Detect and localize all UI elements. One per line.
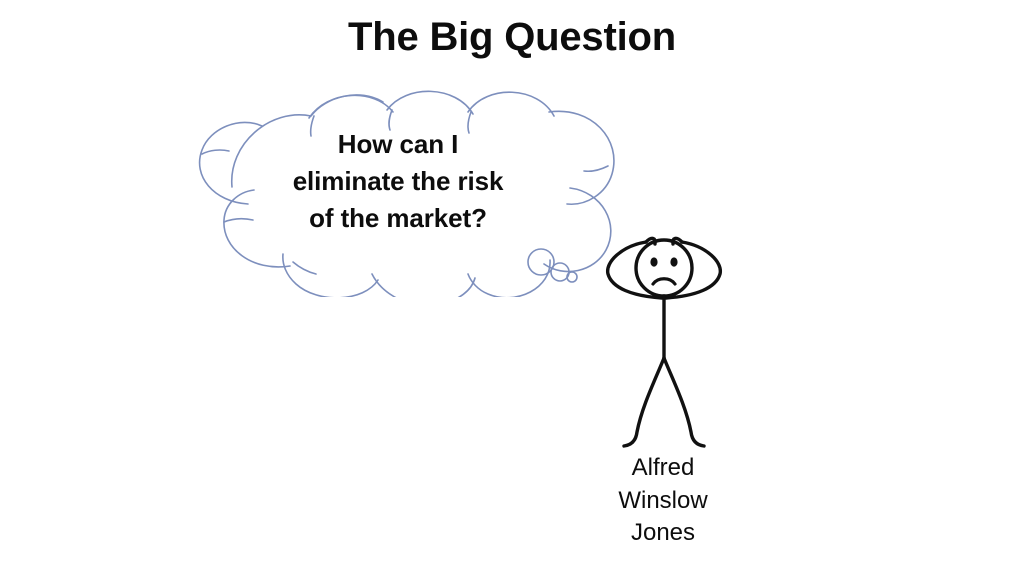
cloud-lobe-bottom-mid [372,274,475,297]
thought-bubble-text: How can I eliminate the risk of the mark… [238,126,558,237]
stick-figure-drawing [596,226,732,458]
cloud-lobe-top-right [468,92,554,116]
frowning-mouth [653,279,675,284]
right-eye [670,257,677,266]
right-leg [664,358,704,446]
thought-line-3: of the market? [238,200,558,237]
cloud-seam-7 [293,262,316,274]
caption-line-1: Alfred [583,452,743,485]
left-leg [624,358,664,446]
cloud-lobe-top-mid [387,91,473,114]
cloud-seam-5 [202,150,229,154]
left-eye [650,257,657,266]
caption-line-2: Winslow [583,485,743,518]
cloud-seam-4 [584,166,608,171]
thought-line-2: eliminate the risk [238,163,558,200]
cloud-lobe-top-mid-left [309,95,393,118]
head [636,240,692,296]
thought-trail-bubble-small [567,272,577,282]
figure-caption: Alfred Winslow Jones [583,452,743,550]
slide-canvas: The Big Question [0,0,1024,576]
thought-line-1: How can I [238,126,558,163]
page-title: The Big Question [0,14,1024,60]
caption-line-3: Jones [583,517,743,550]
cloud-lobe-bottom-right [468,260,550,297]
cloud-lobe-bottom-left [283,254,378,297]
